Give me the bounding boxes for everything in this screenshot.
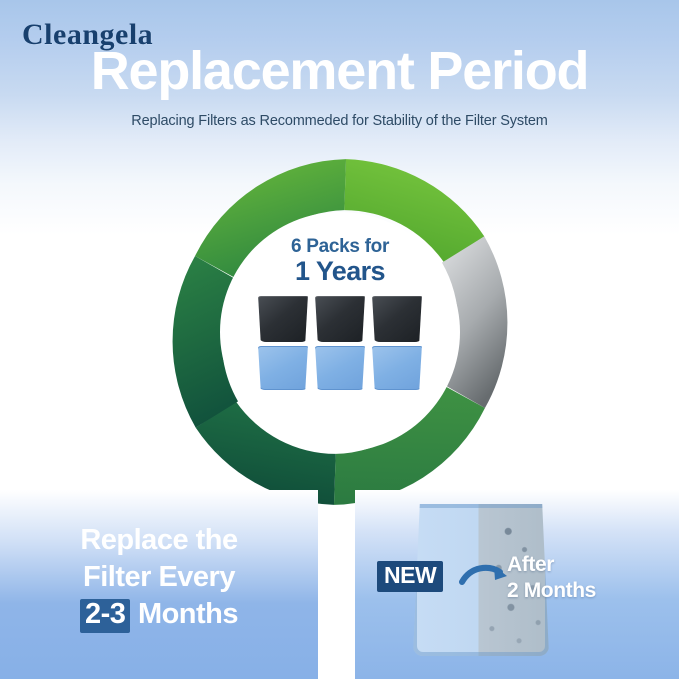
new-state-badge: NEW: [377, 561, 443, 592]
infographic-canvas: Cleangela Replacement Period Replacing F…: [0, 0, 679, 679]
replacement-interval-text: Replace the Filter Every 2-3 Months: [0, 522, 318, 633]
replace-line-1: Replace the: [0, 522, 318, 559]
foam-filter-icon: [371, 346, 424, 390]
replace-line-3: 2-3 Months: [0, 596, 318, 633]
replacement-donut-chart: 6 Packs for 1 Years: [167, 159, 513, 505]
interval-unit-label: Months: [138, 598, 238, 630]
interval-highlight-badge: 2-3: [80, 599, 130, 633]
filter-pack-grid: [257, 296, 424, 390]
carbon-filter-icon: [314, 296, 367, 342]
page-title: Replacement Period: [0, 44, 679, 98]
duration-label: 1 Years: [295, 256, 385, 287]
after-line-2: 2 Months: [507, 578, 596, 604]
donut-center-label: 6 Packs for 1 Years: [220, 212, 460, 452]
header: Cleangela Replacement Period Replacing F…: [0, 0, 679, 150]
carbon-filter-icon: [257, 296, 310, 342]
curved-arrow-icon: [459, 560, 511, 590]
after-state-label: After 2 Months: [507, 552, 596, 603]
packs-count-label: 6 Packs for: [291, 236, 389, 258]
foam-filter-icon: [257, 346, 310, 390]
before-after-panel: NEW After 2 Months: [355, 490, 679, 679]
replacement-interval-panel: Replace the Filter Every 2-3 Months: [0, 490, 318, 679]
after-line-1: After: [507, 552, 596, 578]
foam-filter-icon: [314, 346, 367, 390]
carbon-filter-icon: [371, 296, 424, 342]
page-subtitle: Replacing Filters as Recommeded for Stab…: [0, 113, 679, 129]
replace-line-2: Filter Every: [0, 559, 318, 596]
